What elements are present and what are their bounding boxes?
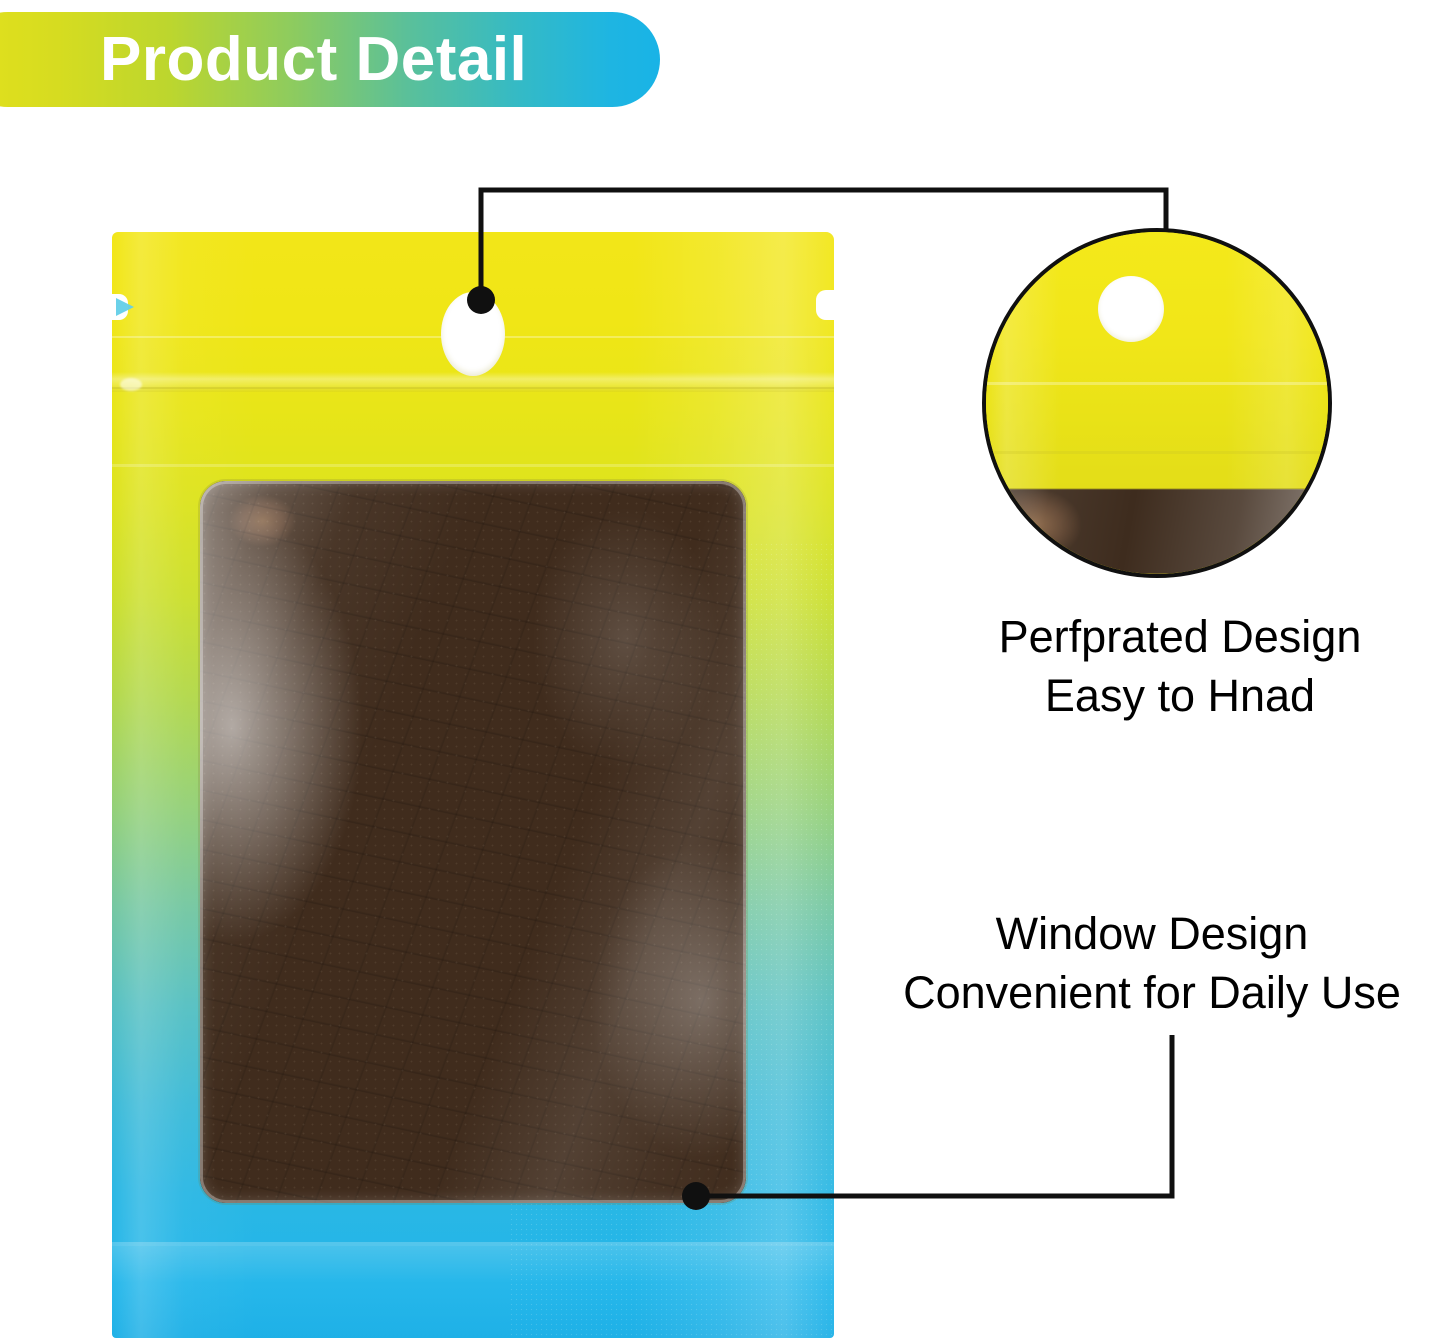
pouch-bottom-shading [112,1246,834,1338]
zipper-nub [120,378,142,391]
coffee-bean-grain [200,481,746,1203]
transparent-window [200,481,746,1203]
product-detail-page: Product Detail [0,0,1445,1338]
callout-hang-hole [1098,276,1164,342]
product-pouch-image [112,232,834,1338]
callout-crease-lower [986,451,1328,454]
callout-crease-upper [986,382,1328,385]
page-title: Product Detail [100,12,660,107]
zipper-seal-line [112,387,834,389]
magnified-callout-circle [982,228,1332,578]
tear-notch-right [816,290,834,320]
hang-hole [441,292,505,376]
pouch-lower-crease [112,464,834,467]
callout-window-frost [986,489,1328,575]
feature-caption-window: Window Design Convenient for Daily Use [862,905,1442,1022]
feature-caption-perforated: Perfprated Design Easy to Hnad [930,608,1430,725]
